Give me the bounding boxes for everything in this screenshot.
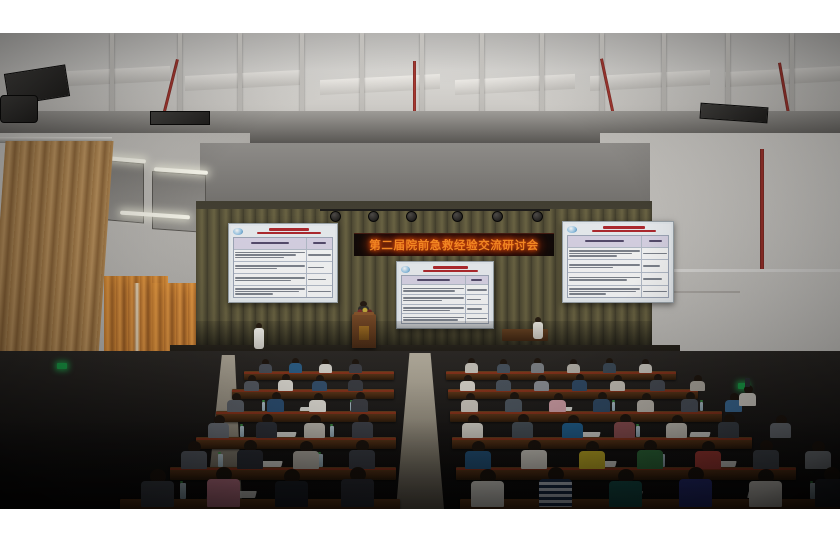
ceiling-projector	[150, 111, 210, 125]
led-banner-text: 第二届院前急救经验交流研讨会	[369, 237, 538, 253]
letterbox-top	[0, 0, 840, 33]
stage-spotlight	[452, 211, 463, 222]
slide-table	[567, 235, 669, 298]
desk-row	[460, 499, 840, 509]
slide-title	[245, 227, 333, 235]
raised-phone	[745, 378, 750, 387]
slide-title	[579, 225, 669, 233]
ceiling-projector	[0, 95, 38, 123]
staff-at-side-table	[533, 317, 543, 339]
wall-fire-pipe	[760, 149, 764, 269]
conference-hall-photo: 第二届院前急救经验交流研讨会	[0, 33, 840, 509]
photograph-canvas: 第二届院前急救经验交流研讨会	[0, 0, 840, 542]
podium	[352, 314, 376, 348]
stage-spotlight	[492, 211, 503, 222]
stage-spotlight	[330, 211, 341, 222]
stage-spotlight	[406, 211, 417, 222]
left-projection-screen	[228, 223, 338, 303]
exit-sign-left	[57, 363, 67, 369]
slide-table	[233, 237, 333, 298]
led-banner: 第二届院前急救经验交流研讨会	[354, 233, 554, 256]
center-projection-screen	[396, 261, 494, 329]
stage-spotlight	[532, 211, 543, 222]
standing-attendee-left	[254, 323, 264, 349]
slide-table	[401, 275, 489, 324]
slide-title	[412, 265, 489, 273]
letterbox-bottom	[0, 509, 840, 542]
slide-logo-icon	[401, 266, 410, 273]
slide-logo-icon	[233, 228, 243, 235]
slide-logo-icon	[567, 226, 577, 233]
stage-spotlight	[368, 211, 379, 222]
right-projection-screen	[562, 221, 674, 303]
desk-row	[216, 411, 396, 422]
